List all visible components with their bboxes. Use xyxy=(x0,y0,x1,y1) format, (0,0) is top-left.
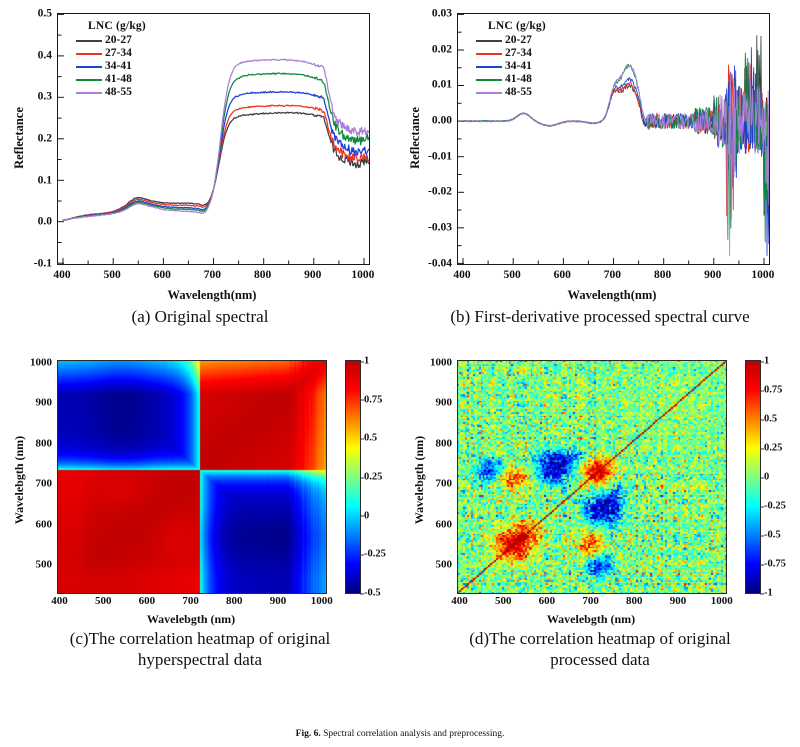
panel-a-xtick: 500 xyxy=(103,270,120,282)
colorbar-tick-mark xyxy=(760,593,764,594)
legend-label-27-34: 27-34 xyxy=(505,48,532,60)
colorbar-tick-mark xyxy=(760,390,764,391)
legend-swatch-41-48 xyxy=(76,79,102,81)
colorbar-tick-label: 0 xyxy=(364,510,369,521)
legend-item-20-27[interactable]: 20-27 xyxy=(476,34,546,47)
legend-item-27-34[interactable]: 27-34 xyxy=(476,47,546,60)
colorbar-tick-label: -0.25 xyxy=(364,549,386,560)
panel-b-yaxis-title: Reflectance xyxy=(408,107,423,169)
panel-d-caption: (d)The correlation heatmap of original p… xyxy=(400,629,800,670)
colorbar-tick-label: 1 xyxy=(364,356,369,367)
panel-a-curve-20-27 xyxy=(63,112,369,220)
colorbar-tick-mark xyxy=(360,361,364,362)
panel-a-ytick: 0.1 xyxy=(14,175,52,187)
panel-c-ytick: 900 xyxy=(10,398,52,409)
panel-a-ytick: 0.3 xyxy=(14,92,52,104)
legend-label-48-55: 48-55 xyxy=(105,87,132,99)
panel-d-heatmap xyxy=(457,360,727,594)
colorbar-tick-mark xyxy=(360,477,364,478)
colorbar-tick-label: 0.5 xyxy=(364,433,377,444)
colorbar-tick-label: -0.25 xyxy=(764,501,786,512)
figure-caption-text: Spectral correlation analysis and prepro… xyxy=(323,729,504,739)
panel-c-correlation-heatmap-original: 1000 900 800 700 600 500 400 500 600 700… xyxy=(0,352,400,747)
colorbar-tick-label: 0.5 xyxy=(764,414,777,425)
colorbar-tick-label: 0.25 xyxy=(764,443,782,454)
panel-d-ytick: 900 xyxy=(410,398,452,409)
panel-a-plot-area: LNC (g/kg) 20-27 27-34 34-41 41-48 xyxy=(57,13,370,265)
legend-item-48-55[interactable]: 48-55 xyxy=(476,86,546,99)
panel-d-xtick: 800 xyxy=(626,596,643,607)
legend-item-41-48[interactable]: 41-48 xyxy=(476,73,546,86)
legend-swatch-27-34 xyxy=(476,53,502,55)
panel-c-xtick: 500 xyxy=(95,596,112,607)
panel-b-xtick: 1000 xyxy=(751,270,774,282)
panel-b-xtick: 600 xyxy=(554,270,571,282)
panel-c-xtick: 400 xyxy=(51,596,68,607)
panel-d-yaxis-title: Wavelebgth (nm) xyxy=(412,436,427,524)
panel-a-ytick: 0.4 xyxy=(14,50,52,62)
legend-item-27-34[interactable]: 27-34 xyxy=(76,47,146,60)
panel-d-correlation-heatmap-processed: 1000 900 800 700 600 500 400 500 600 700… xyxy=(400,352,800,747)
legend-swatch-34-41 xyxy=(476,66,502,68)
legend-label-20-27: 20-27 xyxy=(105,35,132,47)
panel-b-caption: (b) First-derivative processed spectral … xyxy=(400,307,800,328)
panel-c-yaxis-title: Wavelebgth (nm) xyxy=(12,436,27,524)
colorbar-tick-mark xyxy=(760,564,764,565)
legend-swatch-41-48 xyxy=(476,79,502,81)
panel-a-original-spectral: 0.5 0.4 0.3 0.2 0.1 0.0 -0.1 400 500 600… xyxy=(0,0,400,330)
panel-a-legend-title: LNC (g/kg) xyxy=(88,20,146,32)
panel-c-colorbar-gradient xyxy=(346,361,360,593)
panel-d-xtick: 500 xyxy=(495,596,512,607)
legend-label-41-48: 41-48 xyxy=(105,74,132,86)
panel-a-yaxis-title: Reflectance xyxy=(12,107,27,169)
colorbar-tick-mark xyxy=(360,400,364,401)
legend-item-34-41[interactable]: 34-41 xyxy=(476,60,546,73)
figure-caption-label: Fig. 6. xyxy=(296,729,321,739)
panel-d-xaxis-title: Wavelebgth (nm) xyxy=(547,612,635,627)
panel-d-caption-line2: processed data xyxy=(400,650,800,671)
panel-a-caption: (a) Original spectral xyxy=(0,307,400,328)
panel-c-xtick: 600 xyxy=(139,596,156,607)
colorbar-tick-label: 0.25 xyxy=(364,472,382,483)
panel-b-xtick: 800 xyxy=(654,270,671,282)
panel-c-xtick: 700 xyxy=(182,596,199,607)
panel-c-caption-line2: hyperspectral data xyxy=(0,650,400,671)
panel-d-xtick: 700 xyxy=(582,596,599,607)
panel-a-xtick: 1000 xyxy=(351,270,374,282)
panel-b-ytick: 0.02 xyxy=(406,44,452,56)
panel-d-heatmap-canvas xyxy=(458,361,726,593)
panel-b-xtick: 700 xyxy=(604,270,621,282)
panel-b-xtick: 400 xyxy=(453,270,470,282)
panel-a-curve-34-41 xyxy=(63,91,369,220)
colorbar-tick-mark xyxy=(360,438,364,439)
legend-swatch-34-41 xyxy=(76,66,102,68)
panel-a-curve-27-34 xyxy=(63,105,369,220)
panel-d-colorbar-gradient xyxy=(746,361,760,593)
panel-a-ytick: 0.5 xyxy=(14,8,52,20)
panel-b-legend-title: LNC (g/kg) xyxy=(488,20,546,32)
panel-b-ytick: -0.04 xyxy=(406,258,452,270)
panel-c-colorbar: -0.5-0.2500.250.50.751 xyxy=(345,360,361,594)
panel-c-xtick: 1000 xyxy=(311,596,333,607)
legend-swatch-27-34 xyxy=(76,53,102,55)
panel-b-first-derivative: 0.03 0.02 0.01 0.00 -0.01 -0.02 -0.03 -0… xyxy=(400,0,800,330)
panel-d-xtick: 1000 xyxy=(711,596,733,607)
panel-b-legend: LNC (g/kg) 20-27 27-34 34-41 41-48 xyxy=(476,20,546,99)
legend-item-41-48[interactable]: 41-48 xyxy=(76,73,146,86)
legend-swatch-48-55 xyxy=(476,92,502,94)
legend-label-20-27: 20-27 xyxy=(505,35,532,47)
panel-b-ytick: -0.03 xyxy=(406,222,452,234)
colorbar-tick-mark xyxy=(760,477,764,478)
legend-label-41-48: 41-48 xyxy=(505,74,532,86)
panel-c-xaxis-title: Wavelebgth (nm) xyxy=(147,612,235,627)
colorbar-tick-mark xyxy=(760,535,764,536)
panel-a-xtick: 400 xyxy=(53,270,70,282)
figure-6: 0.5 0.4 0.3 0.2 0.1 0.0 -0.1 400 500 600… xyxy=(0,0,800,747)
panel-c-colorbar-ticks: -0.5-0.2500.250.50.751 xyxy=(360,361,402,593)
legend-label-34-41: 34-41 xyxy=(105,61,132,73)
colorbar-tick-mark xyxy=(760,361,764,362)
panel-c-ytick: 500 xyxy=(10,559,52,570)
panel-a-ytick: -0.1 xyxy=(14,258,52,270)
legend-label-48-55: 48-55 xyxy=(505,87,532,99)
panel-c-xtick: 800 xyxy=(226,596,243,607)
colorbar-tick-label: 0 xyxy=(764,472,769,483)
colorbar-tick-label: 1 xyxy=(764,356,769,367)
panel-d-caption-line1: (d)The correlation heatmap of original xyxy=(400,629,800,650)
panel-d-ytick: 500 xyxy=(410,559,452,570)
colorbar-tick-mark xyxy=(360,593,364,594)
panel-a-ytick: 0.0 xyxy=(14,217,52,229)
panel-d-colorbar-ticks: -1-0.75-0.5-0.2500.250.50.751 xyxy=(760,361,800,593)
legend-label-34-41: 34-41 xyxy=(505,61,532,73)
panel-b-xtick: 500 xyxy=(503,270,520,282)
panel-c-ytick: 1000 xyxy=(10,358,52,369)
panel-c-caption-line1: (c)The correlation heatmap of original xyxy=(0,629,400,650)
colorbar-tick-mark xyxy=(760,419,764,420)
panel-d-xtick: 400 xyxy=(451,596,468,607)
legend-label-27-34: 27-34 xyxy=(105,48,132,60)
figure-caption: Fig. 6. Spectral correlation analysis an… xyxy=(0,729,800,739)
panel-a-xtick: 600 xyxy=(154,270,171,282)
colorbar-tick-label: -0.5 xyxy=(764,530,781,541)
legend-swatch-48-55 xyxy=(76,92,102,94)
panel-a-xtick: 700 xyxy=(204,270,221,282)
panel-b-xtick: 900 xyxy=(704,270,721,282)
panel-d-xtick: 600 xyxy=(539,596,556,607)
panel-c-heatmap-canvas xyxy=(58,361,326,593)
colorbar-tick-label: -0.5 xyxy=(364,588,381,599)
colorbar-tick-label: 0.75 xyxy=(364,394,382,405)
panel-a-xtick: 900 xyxy=(304,270,321,282)
legend-swatch-20-27 xyxy=(76,40,102,42)
panel-a-legend: LNC (g/kg) 20-27 27-34 34-41 41-48 xyxy=(76,20,146,99)
panel-d-xtick: 900 xyxy=(670,596,687,607)
legend-item-20-27[interactable]: 20-27 xyxy=(76,34,146,47)
legend-item-34-41[interactable]: 34-41 xyxy=(76,60,146,73)
colorbar-tick-mark xyxy=(360,516,364,517)
colorbar-tick-mark xyxy=(360,554,364,555)
colorbar-tick-label: -1 xyxy=(764,588,773,599)
panel-d-ytick: 1000 xyxy=(410,358,452,369)
legend-item-48-55[interactable]: 48-55 xyxy=(76,86,146,99)
panel-c-caption: (c)The correlation heatmap of original h… xyxy=(0,629,400,670)
panel-b-ytick: 0.03 xyxy=(406,8,452,20)
panel-c-heatmap xyxy=(57,360,327,594)
panel-a-xaxis-title: Wavelength(nm) xyxy=(168,288,257,303)
legend-swatch-20-27 xyxy=(476,40,502,42)
panel-c-xtick: 900 xyxy=(270,596,287,607)
colorbar-tick-label: -0.75 xyxy=(764,559,786,570)
panel-b-plot-area: LNC (g/kg) 20-27 27-34 34-41 41-48 xyxy=(457,13,770,265)
colorbar-tick-mark xyxy=(760,448,764,449)
panel-b-xaxis-title: Wavelength(nm) xyxy=(568,288,657,303)
panel-b-ytick: 0.01 xyxy=(406,80,452,92)
panel-d-colorbar: -1-0.75-0.5-0.2500.250.50.751 xyxy=(745,360,761,594)
panel-a-xtick: 800 xyxy=(254,270,271,282)
colorbar-tick-mark xyxy=(760,506,764,507)
colorbar-tick-label: 0.75 xyxy=(764,385,782,396)
panel-b-ytick: -0.02 xyxy=(406,187,452,199)
